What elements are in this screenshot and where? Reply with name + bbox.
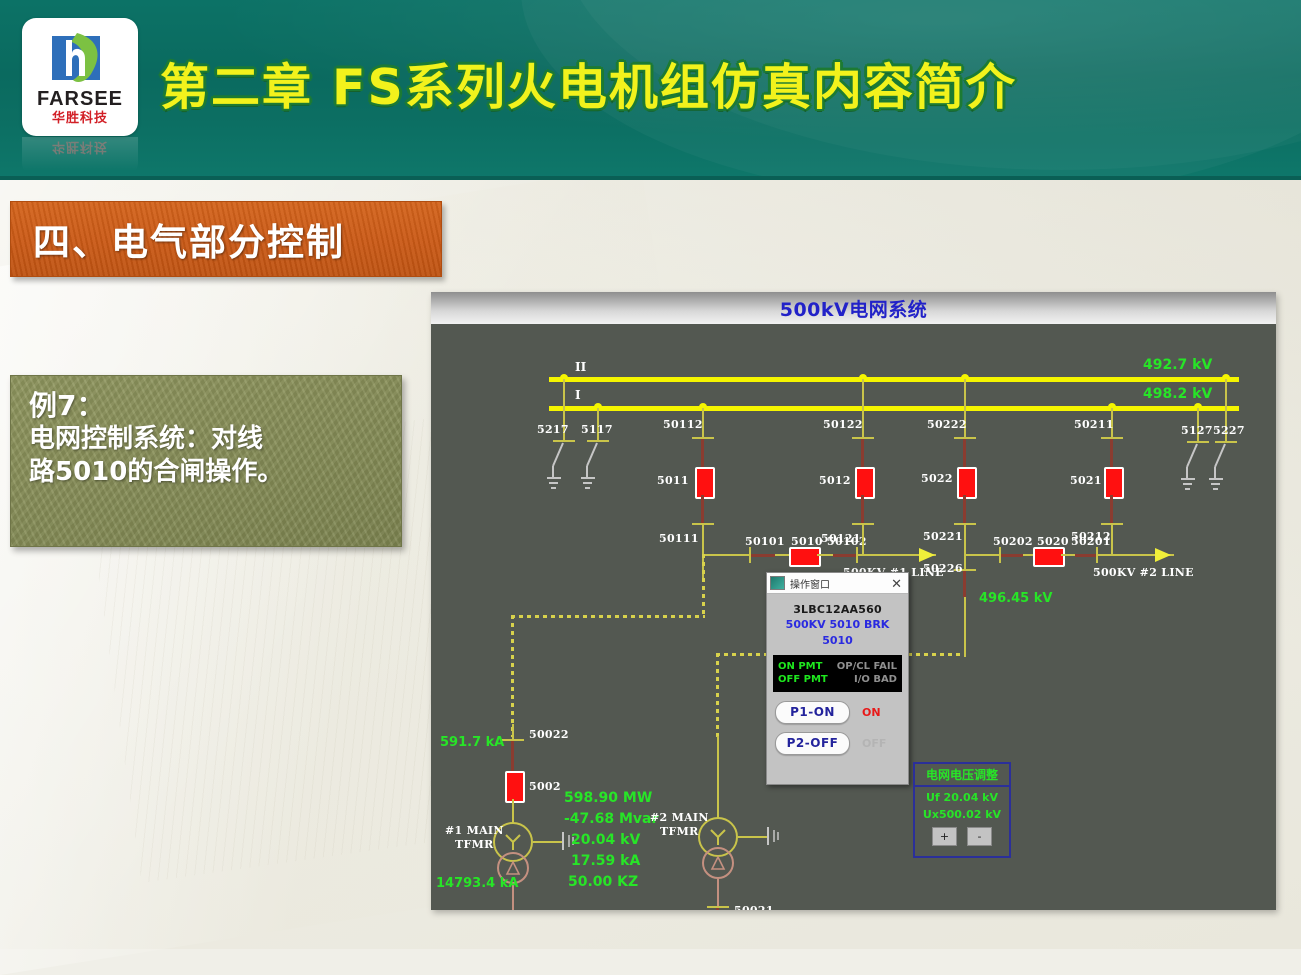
wire-50112-dark <box>701 439 704 467</box>
status-on-pmt: ON PMT <box>778 661 822 672</box>
transformer1-name-line1: #1 MAIN <box>445 824 504 837</box>
p2-state-indicator: OFF <box>862 737 886 750</box>
transformer1-name-line2: TFMR <box>455 838 494 851</box>
breaker-5010 <box>789 547 821 567</box>
application-icon <box>770 576 785 590</box>
dotted-feed-2-vert <box>716 653 719 737</box>
farsee-logo: FARSEE 华胜科技 <box>22 18 138 136</box>
wire-50226-down <box>964 597 966 657</box>
label-50212: 50212 <box>1071 530 1111 543</box>
label-50202: 50202 <box>993 535 1033 548</box>
scada-window-title: 500kV电网系统 <box>780 295 928 322</box>
label-50211: 50211 <box>1074 418 1114 431</box>
voltage-panel-title: 电网电压调整 <box>915 764 1009 787</box>
status-row-off: OFF PMT I/O BAD <box>778 674 897 685</box>
label-5217: 5217 <box>537 423 569 436</box>
wire-5021-below <box>1110 495 1113 523</box>
busbar-i-voltage: 498.2 kV <box>1143 386 1212 402</box>
breaker-5002 <box>505 771 525 803</box>
button-row-p1: P1-ON ON <box>775 701 900 724</box>
label-5011: 5011 <box>657 474 689 487</box>
wire-50122-dark <box>861 439 864 467</box>
label-50111: 50111 <box>659 532 699 545</box>
example-text-line-2: 路5010的合闸操作。 <box>29 456 387 489</box>
logo-mark-icon <box>47 30 113 86</box>
gen1-kz: 50.00 KZ <box>568 874 638 890</box>
wire-50202-dark <box>1001 554 1023 557</box>
wire-line1-left <box>702 554 750 556</box>
wire-50021-dark <box>716 908 719 910</box>
label-5021: 5021 <box>1070 474 1102 487</box>
line-voltage-reading: 496.45 kV <box>979 591 1052 606</box>
section-title-banner: 四、电气部分控制 <box>10 201 442 277</box>
example-text-line-1: 电网控制系统：对线 <box>29 423 387 456</box>
voltage-uf-reading: Uf 20.04 kV <box>915 791 1009 804</box>
wire-50022-dark <box>511 741 514 771</box>
gen1-kv: 20.04 kV <box>571 832 640 848</box>
label-5227: 5227 <box>1213 424 1245 437</box>
wire-t2-neutral <box>738 836 768 838</box>
line2-arrow-icon <box>1155 548 1171 562</box>
logo-reflection-text: 华胜科技 <box>52 139 108 158</box>
label-50112: 50112 <box>663 418 703 431</box>
p1-on-button[interactable]: P1-ON <box>775 701 850 724</box>
gen1-mvar: -47.68 Mvar <box>564 811 658 827</box>
label-5127: 5127 <box>1181 424 1213 437</box>
label-line2: 500KV #2 LINE <box>1093 566 1194 579</box>
busbar-i-label: I <box>575 388 581 402</box>
device-description: 500KV 5010 BRK <box>772 618 903 632</box>
operation-dialog-title: 操作窗口 <box>790 576 888 591</box>
wire-t2-mid <box>717 879 719 907</box>
page-title: 第二章 FS系列火电机组仿真内容简介 <box>160 48 1270 119</box>
label-50121: 50121 <box>821 532 861 545</box>
wire-50201-dark <box>1075 554 1097 557</box>
status-row-on: ON PMT OP/CL FAIL <box>778 661 897 672</box>
wire-post-5020 <box>1061 554 1075 556</box>
device-number: 5010 <box>772 634 903 648</box>
operation-dialog-titlebar[interactable]: 操作窗口 ✕ <box>767 573 908 594</box>
transformer1-delta-icon <box>505 860 521 876</box>
transformer2-name-line2: TFMR <box>660 825 699 838</box>
voltage-ux-reading: Ux500.02 kV <box>915 808 1009 821</box>
earth-switch-5227 <box>1209 443 1243 497</box>
earth-switch-5217 <box>547 442 581 496</box>
section-title-text: 四、电气部分控制 <box>33 212 345 266</box>
logo-chinese-name: 华胜科技 <box>52 112 108 125</box>
voltage-increase-button[interactable]: + <box>932 827 957 846</box>
wire-50222-dark <box>963 439 966 467</box>
busbar-i <box>549 406 1239 411</box>
wire-50226-up <box>964 554 966 570</box>
status-io-bad: I/O BAD <box>854 674 897 685</box>
label-5010: 5010 <box>791 535 823 548</box>
dotted-feed-2-horz <box>716 653 764 656</box>
wire-5002-down <box>512 799 514 823</box>
wire-50226-dark <box>963 571 966 597</box>
gen1-lv-current: 14793.4 kA <box>436 876 518 891</box>
scada-window-titlebar: 500kV电网系统 <box>431 292 1276 324</box>
line1-arrow-icon <box>919 548 935 562</box>
transformer2-ground-icon <box>766 827 782 847</box>
wire-50221-down <box>964 525 966 555</box>
gen1-hv-current: 591.7 kA <box>440 735 504 750</box>
label-50122: 50122 <box>823 418 863 431</box>
grid-voltage-adjust-panel[interactable]: 电网电压调整 Uf 20.04 kV Ux500.02 kV + - <box>913 762 1011 858</box>
example-label: 例7： <box>29 388 387 423</box>
wire-50102-dark <box>833 554 857 557</box>
device-tag: 3LBC12AA560 <box>772 603 903 616</box>
label-50226: 50226 <box>923 562 963 575</box>
wire-50121-down <box>862 525 864 555</box>
breaker-5012 <box>855 467 875 499</box>
transformer2-name-line1: #2 MAIN <box>650 811 709 824</box>
dotted-feed-1-horz <box>511 615 705 618</box>
busbar-ii-voltage: 492.7 kV <box>1143 357 1212 373</box>
earth-switch-5117 <box>581 442 615 496</box>
dotted-feed-1-vert-left <box>511 615 514 737</box>
busbar-ii-label: II <box>575 360 586 374</box>
gen1-mw: 598.90 MW <box>564 790 652 806</box>
transformer2-wye-icon <box>708 827 728 847</box>
breaker-5020 <box>1033 547 1065 567</box>
label-5022: 5022 <box>921 472 953 485</box>
p2-off-button[interactable]: P2-OFF <box>775 732 850 755</box>
wire-50211-dark <box>1110 439 1113 467</box>
example-callout-box: 例7： 电网控制系统：对线 路5010的合闸操作。 <box>10 375 402 547</box>
label-50101: 50101 <box>745 535 785 548</box>
wire-pre-5020 <box>1023 554 1033 556</box>
breaker-5022 <box>957 467 977 499</box>
wire-line2-left <box>964 554 1000 556</box>
logo-wordmark: FARSEE <box>37 89 123 109</box>
voltage-adjust-buttons: + - <box>915 827 1009 846</box>
breaker-5021 <box>1104 467 1124 499</box>
button-row-p2: P2-OFF OFF <box>775 732 900 755</box>
label-5020: 5020 <box>1037 535 1069 548</box>
transformer1-wye-icon <box>503 832 523 852</box>
status-off-pmt: OFF PMT <box>778 674 828 685</box>
wire-5011-below <box>701 495 704 523</box>
wire-5012-below <box>861 495 864 523</box>
wire-pre-5010 <box>775 554 789 556</box>
close-icon[interactable]: ✕ <box>888 577 905 590</box>
label-5117: 5117 <box>581 423 613 436</box>
gen1-ka: 17.59 kA <box>571 853 640 869</box>
label-50222: 50222 <box>927 418 967 431</box>
wire-50212-down <box>1111 525 1113 555</box>
breaker-5011 <box>695 467 715 499</box>
wire-gen2-top <box>717 736 719 818</box>
label-5002: 5002 <box>529 780 561 793</box>
header-divider <box>0 176 1301 180</box>
wire-post-5010 <box>817 554 833 556</box>
busbar-ii <box>549 377 1239 382</box>
label-5012: 5012 <box>819 474 851 487</box>
wire-t1-neutral <box>533 841 563 843</box>
logo-reflection: 华胜科技 <box>22 137 138 177</box>
status-opcl-fail: OP/CL FAIL <box>837 661 897 672</box>
wire-50101-dark <box>751 554 775 557</box>
operation-dialog[interactable]: 操作窗口 ✕ 3LBC12AA560 500KV 5010 BRK 5010 O… <box>766 572 909 785</box>
dotted-feed-1-vert-right <box>702 554 705 617</box>
p1-state-indicator: ON <box>862 706 881 719</box>
wire-gen1-top <box>512 724 514 740</box>
operation-buttons: P1-ON ON P2-OFF OFF <box>772 701 903 755</box>
label-50022: 50022 <box>529 728 569 741</box>
label-50021: 50021 <box>734 904 774 910</box>
voltage-decrease-button[interactable]: - <box>967 827 992 846</box>
label-50221: 50221 <box>923 530 963 543</box>
wire-5022-below <box>963 495 966 523</box>
operation-dialog-body: 3LBC12AA560 500KV 5010 BRK 5010 ON PMT O… <box>767 594 908 755</box>
status-indicator-panel: ON PMT OP/CL FAIL OFF PMT I/O BAD <box>773 655 902 692</box>
transformer2-delta-icon <box>710 855 726 871</box>
